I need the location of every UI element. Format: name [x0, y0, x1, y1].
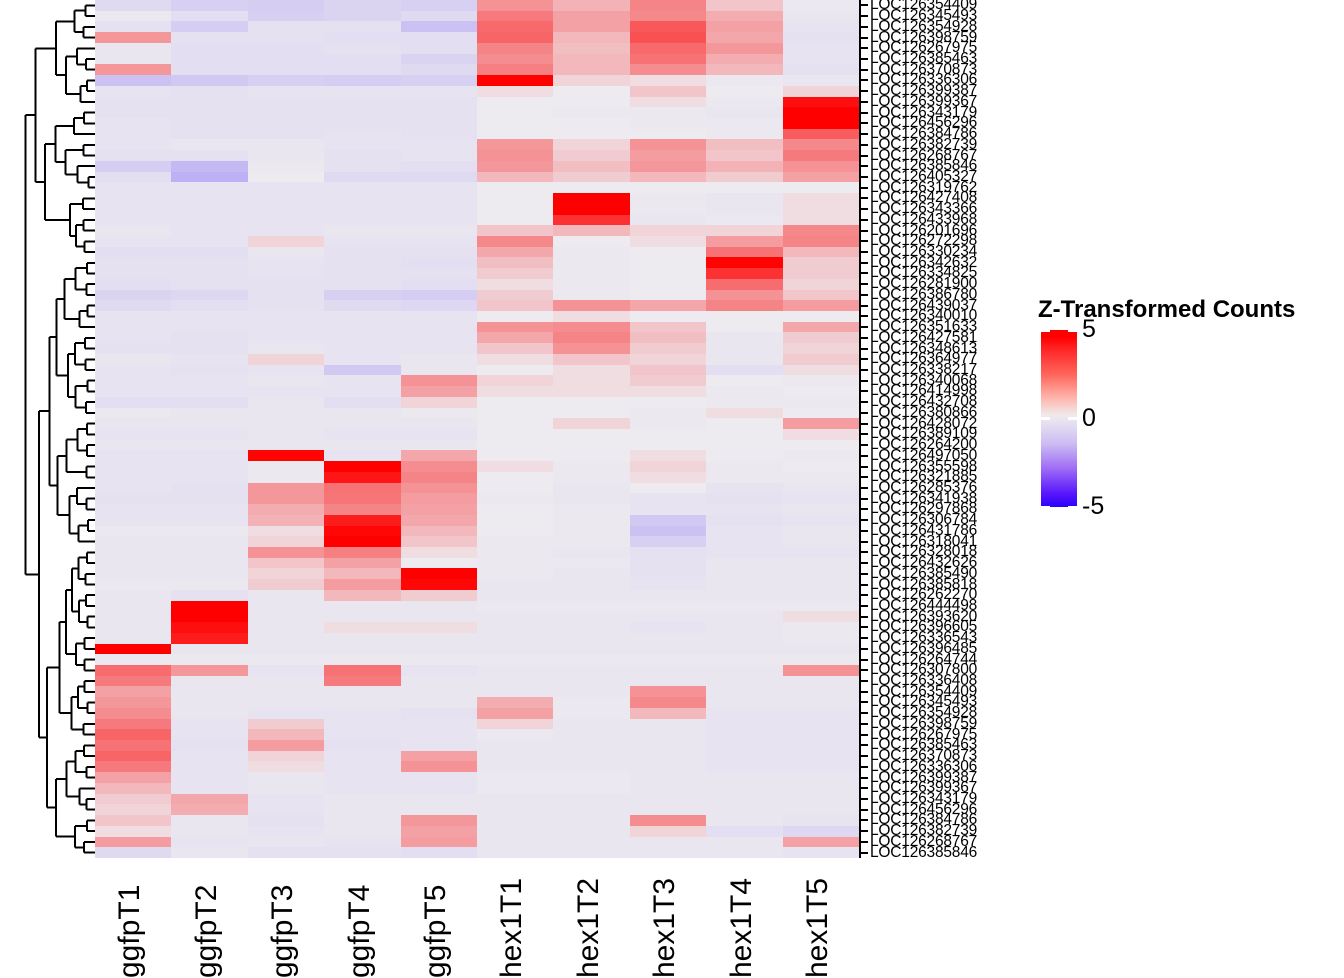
heatmap-cell[interactable] [630, 21, 706, 32]
heatmap-cell[interactable] [248, 815, 324, 826]
heatmap-cell[interactable] [324, 118, 400, 129]
heatmap-cell[interactable] [553, 150, 629, 161]
heatmap-cell[interactable] [401, 568, 477, 579]
heatmap-cell[interactable] [401, 386, 477, 397]
heatmap-cell[interactable] [248, 257, 324, 268]
heatmap-cell[interactable] [783, 644, 859, 655]
heatmap-cell[interactable] [171, 558, 247, 569]
heatmap-cell[interactable] [401, 21, 477, 32]
heatmap-cell[interactable] [477, 21, 553, 32]
heatmap-cell[interactable] [553, 32, 629, 43]
heatmap-cell[interactable] [324, 397, 400, 408]
heatmap-cell[interactable] [171, 225, 247, 236]
heatmap-cell[interactable] [401, 697, 477, 708]
heatmap-cell[interactable] [248, 847, 324, 858]
heatmap-cell[interactable] [324, 504, 400, 515]
heatmap-cell[interactable] [171, 611, 247, 622]
heatmap-cell[interactable] [248, 515, 324, 526]
heatmap-cell[interactable] [783, 493, 859, 504]
heatmap-cell[interactable] [401, 322, 477, 333]
heatmap-cell[interactable] [95, 354, 171, 365]
heatmap-cell[interactable] [783, 11, 859, 22]
heatmap-cell[interactable] [171, 547, 247, 558]
heatmap-cell[interactable] [324, 450, 400, 461]
heatmap-cell[interactable] [553, 590, 629, 601]
heatmap-cell[interactable] [783, 719, 859, 730]
heatmap-cell[interactable] [171, 751, 247, 762]
heatmap-cell[interactable] [248, 150, 324, 161]
heatmap-cell[interactable] [248, 837, 324, 848]
heatmap-cell[interactable] [783, 332, 859, 343]
heatmap-cell[interactable] [324, 32, 400, 43]
heatmap-cell[interactable] [171, 107, 247, 118]
heatmap-grid[interactable] [95, 0, 859, 858]
heatmap-cell[interactable] [401, 815, 477, 826]
heatmap-cell[interactable] [95, 375, 171, 386]
heatmap-cell[interactable] [706, 107, 782, 118]
heatmap-cell[interactable] [477, 236, 553, 247]
heatmap-cell[interactable] [248, 343, 324, 354]
heatmap-cell[interactable] [630, 665, 706, 676]
heatmap-cell[interactable] [95, 826, 171, 837]
heatmap-cell[interactable] [477, 526, 553, 537]
heatmap-cell[interactable] [248, 11, 324, 22]
heatmap-cell[interactable] [248, 676, 324, 687]
heatmap-cell[interactable] [171, 472, 247, 483]
heatmap-cell[interactable] [630, 826, 706, 837]
heatmap-cell[interactable] [630, 97, 706, 108]
heatmap-cell[interactable] [630, 408, 706, 419]
heatmap-cell[interactable] [401, 215, 477, 226]
heatmap-cell[interactable] [95, 139, 171, 150]
heatmap-cell[interactable] [630, 450, 706, 461]
heatmap-cell[interactable] [324, 322, 400, 333]
heatmap-cell[interactable] [171, 461, 247, 472]
heatmap-cell[interactable] [553, 204, 629, 215]
heatmap-cell[interactable] [248, 397, 324, 408]
heatmap-cell[interactable] [783, 697, 859, 708]
heatmap-cell[interactable] [553, 847, 629, 858]
heatmap-cell[interactable] [95, 418, 171, 429]
heatmap-cell[interactable] [248, 204, 324, 215]
heatmap-cell[interactable] [706, 375, 782, 386]
heatmap-cell[interactable] [706, 504, 782, 515]
heatmap-cell[interactable] [95, 215, 171, 226]
heatmap-cell[interactable] [783, 225, 859, 236]
heatmap-cell[interactable] [706, 815, 782, 826]
heatmap-cell[interactable] [324, 826, 400, 837]
heatmap-cell[interactable] [95, 804, 171, 815]
heatmap-cell[interactable] [553, 418, 629, 429]
heatmap-cell[interactable] [248, 665, 324, 676]
heatmap-cell[interactable] [477, 322, 553, 333]
heatmap-cell[interactable] [248, 504, 324, 515]
heatmap-cell[interactable] [706, 215, 782, 226]
heatmap-cell[interactable] [630, 64, 706, 75]
heatmap-cell[interactable] [783, 279, 859, 290]
heatmap-cell[interactable] [95, 290, 171, 301]
heatmap-cell[interactable] [706, 440, 782, 451]
heatmap-cell[interactable] [553, 686, 629, 697]
heatmap-cell[interactable] [171, 375, 247, 386]
heatmap-cell[interactable] [324, 375, 400, 386]
heatmap-cell[interactable] [324, 493, 400, 504]
heatmap-cell[interactable] [248, 751, 324, 762]
heatmap-cell[interactable] [630, 526, 706, 537]
heatmap-cell[interactable] [401, 783, 477, 794]
heatmap-cell[interactable] [95, 0, 171, 11]
heatmap-cell[interactable] [553, 354, 629, 365]
heatmap-cell[interactable] [783, 601, 859, 612]
heatmap-cell[interactable] [477, 386, 553, 397]
heatmap-cell[interactable] [706, 665, 782, 676]
heatmap-cell[interactable] [95, 493, 171, 504]
heatmap-cell[interactable] [324, 182, 400, 193]
heatmap-cell[interactable] [706, 386, 782, 397]
heatmap-cell[interactable] [248, 568, 324, 579]
heatmap-cell[interactable] [171, 761, 247, 772]
heatmap-cell[interactable] [783, 21, 859, 32]
heatmap-cell[interactable] [706, 268, 782, 279]
heatmap-cell[interactable] [477, 483, 553, 494]
heatmap-cell[interactable] [248, 107, 324, 118]
heatmap-cell[interactable] [477, 837, 553, 848]
heatmap-cell[interactable] [783, 483, 859, 494]
heatmap-cell[interactable] [706, 751, 782, 762]
heatmap-cell[interactable] [95, 611, 171, 622]
heatmap-cell[interactable] [95, 21, 171, 32]
heatmap-cell[interactable] [706, 579, 782, 590]
heatmap-cell[interactable] [95, 64, 171, 75]
heatmap-cell[interactable] [783, 504, 859, 515]
heatmap-cell[interactable] [783, 43, 859, 54]
heatmap-cell[interactable] [171, 139, 247, 150]
heatmap-cell[interactable] [783, 300, 859, 311]
heatmap-cell[interactable] [553, 740, 629, 751]
heatmap-cell[interactable] [324, 172, 400, 183]
heatmap-cell[interactable] [630, 654, 706, 665]
heatmap-cell[interactable] [783, 536, 859, 547]
heatmap-cell[interactable] [553, 515, 629, 526]
heatmap-cell[interactable] [477, 622, 553, 633]
heatmap-cell[interactable] [401, 794, 477, 805]
heatmap-cell[interactable] [401, 139, 477, 150]
heatmap-cell[interactable] [630, 236, 706, 247]
heatmap-cell[interactable] [248, 654, 324, 665]
heatmap-cell[interactable] [706, 847, 782, 858]
heatmap-cell[interactable] [706, 408, 782, 419]
heatmap-cell[interactable] [95, 751, 171, 762]
heatmap-cell[interactable] [553, 579, 629, 590]
heatmap-cell[interactable] [248, 418, 324, 429]
heatmap-cell[interactable] [171, 0, 247, 11]
heatmap-cell[interactable] [171, 322, 247, 333]
heatmap-cell[interactable] [401, 0, 477, 11]
heatmap-cell[interactable] [171, 536, 247, 547]
heatmap-cell[interactable] [553, 290, 629, 301]
heatmap-cell[interactable] [477, 847, 553, 858]
heatmap-cell[interactable] [706, 708, 782, 719]
heatmap-cell[interactable] [324, 676, 400, 687]
heatmap-cell[interactable] [95, 429, 171, 440]
heatmap-cell[interactable] [401, 365, 477, 376]
heatmap-cell[interactable] [553, 247, 629, 258]
heatmap-cell[interactable] [401, 719, 477, 730]
heatmap-cell[interactable] [324, 633, 400, 644]
heatmap-cell[interactable] [477, 268, 553, 279]
heatmap-cell[interactable] [553, 107, 629, 118]
heatmap-cell[interactable] [783, 837, 859, 848]
heatmap-cell[interactable] [401, 225, 477, 236]
heatmap-cell[interactable] [706, 729, 782, 740]
heatmap-cell[interactable] [171, 300, 247, 311]
heatmap-cell[interactable] [477, 558, 553, 569]
heatmap-cell[interactable] [477, 150, 553, 161]
heatmap-cell[interactable] [401, 86, 477, 97]
heatmap-cell[interactable] [95, 365, 171, 376]
heatmap-cell[interactable] [477, 461, 553, 472]
heatmap-cell[interactable] [248, 0, 324, 11]
heatmap-cell[interactable] [553, 97, 629, 108]
heatmap-cell[interactable] [553, 64, 629, 75]
heatmap-cell[interactable] [171, 54, 247, 65]
heatmap-cell[interactable] [401, 161, 477, 172]
heatmap-cell[interactable] [324, 311, 400, 322]
heatmap-cell[interactable] [706, 590, 782, 601]
heatmap-cell[interactable] [553, 697, 629, 708]
heatmap-cell[interactable] [248, 311, 324, 322]
heatmap-cell[interactable] [324, 740, 400, 751]
heatmap-cell[interactable] [95, 279, 171, 290]
heatmap-cell[interactable] [171, 418, 247, 429]
heatmap-cell[interactable] [706, 236, 782, 247]
heatmap-cell[interactable] [706, 161, 782, 172]
heatmap-cell[interactable] [401, 43, 477, 54]
heatmap-cell[interactable] [630, 54, 706, 65]
heatmap-cell[interactable] [706, 418, 782, 429]
heatmap-cell[interactable] [630, 268, 706, 279]
heatmap-cell[interactable] [95, 332, 171, 343]
heatmap-cell[interactable] [706, 526, 782, 537]
heatmap-cell[interactable] [248, 365, 324, 376]
heatmap-cell[interactable] [401, 397, 477, 408]
heatmap-cell[interactable] [171, 644, 247, 655]
heatmap-cell[interactable] [171, 515, 247, 526]
heatmap-cell[interactable] [553, 365, 629, 376]
heatmap-cell[interactable] [248, 719, 324, 730]
heatmap-cell[interactable] [783, 193, 859, 204]
heatmap-cell[interactable] [248, 601, 324, 612]
heatmap-cell[interactable] [630, 440, 706, 451]
heatmap-cell[interactable] [324, 526, 400, 537]
heatmap-cell[interactable] [553, 343, 629, 354]
heatmap-cell[interactable] [783, 150, 859, 161]
heatmap-cell[interactable] [401, 97, 477, 108]
heatmap-cell[interactable] [171, 408, 247, 419]
heatmap-cell[interactable] [95, 11, 171, 22]
heatmap-cell[interactable] [248, 182, 324, 193]
heatmap-cell[interactable] [95, 815, 171, 826]
heatmap-cell[interactable] [477, 826, 553, 837]
heatmap-cell[interactable] [553, 118, 629, 129]
heatmap-cell[interactable] [706, 193, 782, 204]
heatmap-cell[interactable] [706, 290, 782, 301]
heatmap-cell[interactable] [95, 247, 171, 258]
heatmap-cell[interactable] [477, 129, 553, 140]
heatmap-cell[interactable] [477, 665, 553, 676]
heatmap-cell[interactable] [324, 247, 400, 258]
heatmap-cell[interactable] [171, 654, 247, 665]
heatmap-cell[interactable] [553, 300, 629, 311]
heatmap-cell[interactable] [630, 772, 706, 783]
heatmap-cell[interactable] [783, 408, 859, 419]
heatmap-cell[interactable] [248, 236, 324, 247]
heatmap-cell[interactable] [95, 107, 171, 118]
heatmap-cell[interactable] [401, 837, 477, 848]
heatmap-cell[interactable] [171, 64, 247, 75]
heatmap-cell[interactable] [553, 719, 629, 730]
heatmap-cell[interactable] [553, 279, 629, 290]
heatmap-cell[interactable] [706, 794, 782, 805]
heatmap-cell[interactable] [324, 547, 400, 558]
heatmap-cell[interactable] [477, 343, 553, 354]
heatmap-cell[interactable] [783, 633, 859, 644]
heatmap-cell[interactable] [95, 86, 171, 97]
heatmap-cell[interactable] [477, 644, 553, 655]
heatmap-cell[interactable] [553, 450, 629, 461]
heatmap-cell[interactable] [553, 526, 629, 537]
heatmap-cell[interactable] [553, 322, 629, 333]
heatmap-cell[interactable] [706, 611, 782, 622]
heatmap-cell[interactable] [95, 97, 171, 108]
heatmap-cell[interactable] [477, 0, 553, 11]
heatmap-cell[interactable] [783, 772, 859, 783]
heatmap-cell[interactable] [248, 129, 324, 140]
heatmap-cell[interactable] [783, 751, 859, 762]
heatmap-cell[interactable] [783, 290, 859, 301]
heatmap-cell[interactable] [324, 772, 400, 783]
heatmap-cell[interactable] [553, 665, 629, 676]
heatmap-cell[interactable] [171, 504, 247, 515]
heatmap-cell[interactable] [706, 54, 782, 65]
heatmap-cell[interactable] [401, 515, 477, 526]
heatmap-cell[interactable] [477, 279, 553, 290]
heatmap-cell[interactable] [248, 161, 324, 172]
heatmap-cell[interactable] [553, 139, 629, 150]
heatmap-cell[interactable] [401, 150, 477, 161]
heatmap-cell[interactable] [248, 54, 324, 65]
heatmap-cell[interactable] [783, 257, 859, 268]
heatmap-cell[interactable] [783, 129, 859, 140]
heatmap-cell[interactable] [630, 783, 706, 794]
heatmap-cell[interactable] [477, 708, 553, 719]
heatmap-cell[interactable] [95, 408, 171, 419]
heatmap-cell[interactable] [553, 375, 629, 386]
heatmap-cell[interactable] [477, 697, 553, 708]
heatmap-cell[interactable] [95, 75, 171, 86]
heatmap-cell[interactable] [171, 268, 247, 279]
heatmap-cell[interactable] [401, 129, 477, 140]
heatmap-cell[interactable] [706, 332, 782, 343]
heatmap-cell[interactable] [324, 365, 400, 376]
heatmap-cell[interactable] [477, 804, 553, 815]
heatmap-cell[interactable] [477, 54, 553, 65]
heatmap-cell[interactable] [95, 676, 171, 687]
heatmap-cell[interactable] [630, 375, 706, 386]
heatmap-cell[interactable] [95, 461, 171, 472]
heatmap-cell[interactable] [477, 204, 553, 215]
heatmap-cell[interactable] [706, 118, 782, 129]
heatmap-cell[interactable] [553, 558, 629, 569]
heatmap-cell[interactable] [477, 311, 553, 322]
heatmap-cell[interactable] [95, 719, 171, 730]
heatmap-cell[interactable] [324, 204, 400, 215]
heatmap-cell[interactable] [171, 815, 247, 826]
heatmap-cell[interactable] [477, 472, 553, 483]
heatmap-cell[interactable] [630, 397, 706, 408]
heatmap-cell[interactable] [477, 257, 553, 268]
heatmap-cell[interactable] [630, 622, 706, 633]
heatmap-cell[interactable] [171, 794, 247, 805]
heatmap-cell[interactable] [324, 215, 400, 226]
heatmap-cell[interactable] [248, 526, 324, 537]
heatmap-cell[interactable] [95, 729, 171, 740]
heatmap-cell[interactable] [783, 686, 859, 697]
heatmap-cell[interactable] [630, 11, 706, 22]
heatmap-cell[interactable] [95, 622, 171, 633]
heatmap-cell[interactable] [630, 568, 706, 579]
heatmap-cell[interactable] [630, 515, 706, 526]
heatmap-cell[interactable] [401, 182, 477, 193]
heatmap-cell[interactable] [401, 558, 477, 569]
heatmap-cell[interactable] [401, 644, 477, 655]
heatmap-cell[interactable] [171, 804, 247, 815]
heatmap-cell[interactable] [706, 826, 782, 837]
heatmap-cell[interactable] [783, 182, 859, 193]
heatmap-cell[interactable] [401, 708, 477, 719]
heatmap-cell[interactable] [553, 268, 629, 279]
heatmap-cell[interactable] [553, 611, 629, 622]
heatmap-cell[interactable] [95, 568, 171, 579]
heatmap-cell[interactable] [630, 483, 706, 494]
heatmap-cell[interactable] [324, 429, 400, 440]
heatmap-cell[interactable] [248, 193, 324, 204]
heatmap-cell[interactable] [324, 665, 400, 676]
heatmap-cell[interactable] [706, 633, 782, 644]
heatmap-cell[interactable] [630, 697, 706, 708]
heatmap-cell[interactable] [95, 644, 171, 655]
heatmap-cell[interactable] [248, 783, 324, 794]
heatmap-cell[interactable] [706, 804, 782, 815]
heatmap-cell[interactable] [630, 43, 706, 54]
heatmap-cell[interactable] [401, 75, 477, 86]
heatmap-cell[interactable] [401, 847, 477, 858]
heatmap-cell[interactable] [783, 654, 859, 665]
heatmap-cell[interactable] [401, 483, 477, 494]
heatmap-cell[interactable] [95, 386, 171, 397]
heatmap-cell[interactable] [248, 761, 324, 772]
heatmap-cell[interactable] [401, 279, 477, 290]
heatmap-cell[interactable] [630, 322, 706, 333]
heatmap-cell[interactable] [95, 204, 171, 215]
heatmap-cell[interactable] [324, 590, 400, 601]
heatmap-cell[interactable] [95, 536, 171, 547]
heatmap-cell[interactable] [248, 64, 324, 75]
heatmap-cell[interactable] [171, 21, 247, 32]
heatmap-cell[interactable] [95, 686, 171, 697]
heatmap-cell[interactable] [324, 193, 400, 204]
heatmap-cell[interactable] [248, 429, 324, 440]
